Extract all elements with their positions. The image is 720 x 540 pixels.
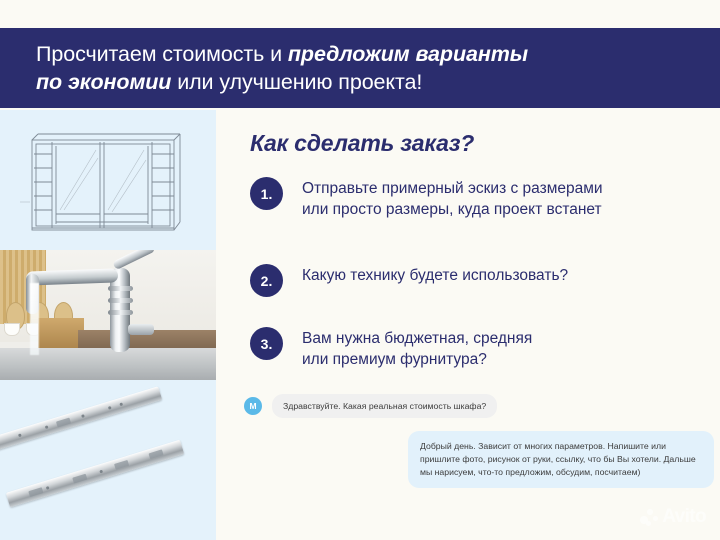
header-banner: Просчитаем стоимость и предложим вариант… — [0, 28, 720, 108]
step-text-2: Какую технику будете использовать? — [302, 263, 568, 286]
avito-wordmark: Avito — [662, 506, 706, 528]
slide-canvas: Просчитаем стоимость и предложим вариант… — [0, 0, 720, 540]
step-text-1: Отправьте примерный эскиз с размерами ил… — [302, 176, 603, 220]
header-line1-plain: Просчитаем стоимость и — [36, 42, 288, 66]
step-number-badge-1: 1. — [250, 177, 283, 210]
step-item-1: 1. Отправьте примерный эскиз с размерами… — [250, 176, 603, 220]
header-headline: Просчитаем стоимость и предложим вариант… — [36, 40, 528, 96]
photo-column — [0, 110, 216, 540]
content-area: Как сделать заказ? 1. Отправьте примерны… — [216, 108, 720, 540]
drawer-slide-rail-lower — [6, 440, 184, 508]
step-text-3: Вам нужна бюджетная, средняя или премиум… — [302, 326, 532, 370]
header-line1-emphasis: предложим варианты — [288, 42, 528, 66]
step-item-2: 2. Какую технику будете использовать? — [250, 263, 568, 297]
avito-watermark: Avito — [640, 506, 706, 528]
faucet-side-outlet — [128, 324, 154, 335]
wardrobe-sketch-drawing — [0, 110, 216, 250]
photo-drawer-slides — [0, 380, 216, 540]
chat-bubble-outgoing: Добрый день. Зависит от многих параметро… — [408, 431, 714, 488]
chat-message-outgoing: Добрый день. Зависит от многих параметро… — [244, 431, 714, 488]
avatar: M — [244, 397, 262, 415]
photo-kitchen-faucet — [0, 250, 216, 380]
step-number-badge-2: 2. — [250, 264, 283, 297]
avito-logo-icon — [640, 508, 659, 527]
photo-wardrobe-sketch — [0, 110, 216, 250]
chat-bubble-incoming: Здравствуйте. Какая реальная стоимость ш… — [272, 394, 497, 418]
drawer-slide-rail-upper — [0, 386, 162, 451]
chat-message-incoming: M Здравствуйте. Какая реальная стоимость… — [244, 394, 714, 418]
section-title: Как сделать заказ? — [250, 130, 474, 157]
step-item-3: 3. Вам нужна бюджетная, средняя или прем… — [250, 326, 532, 370]
step-number-badge-3: 3. — [250, 327, 283, 360]
water-stream — [30, 283, 39, 355]
chat-conversation: M Здравствуйте. Какая реальная стоимость… — [244, 394, 714, 488]
header-line2-plain: или улучшению проекта! — [171, 70, 422, 94]
header-line2-emphasis: по экономии — [36, 70, 171, 94]
